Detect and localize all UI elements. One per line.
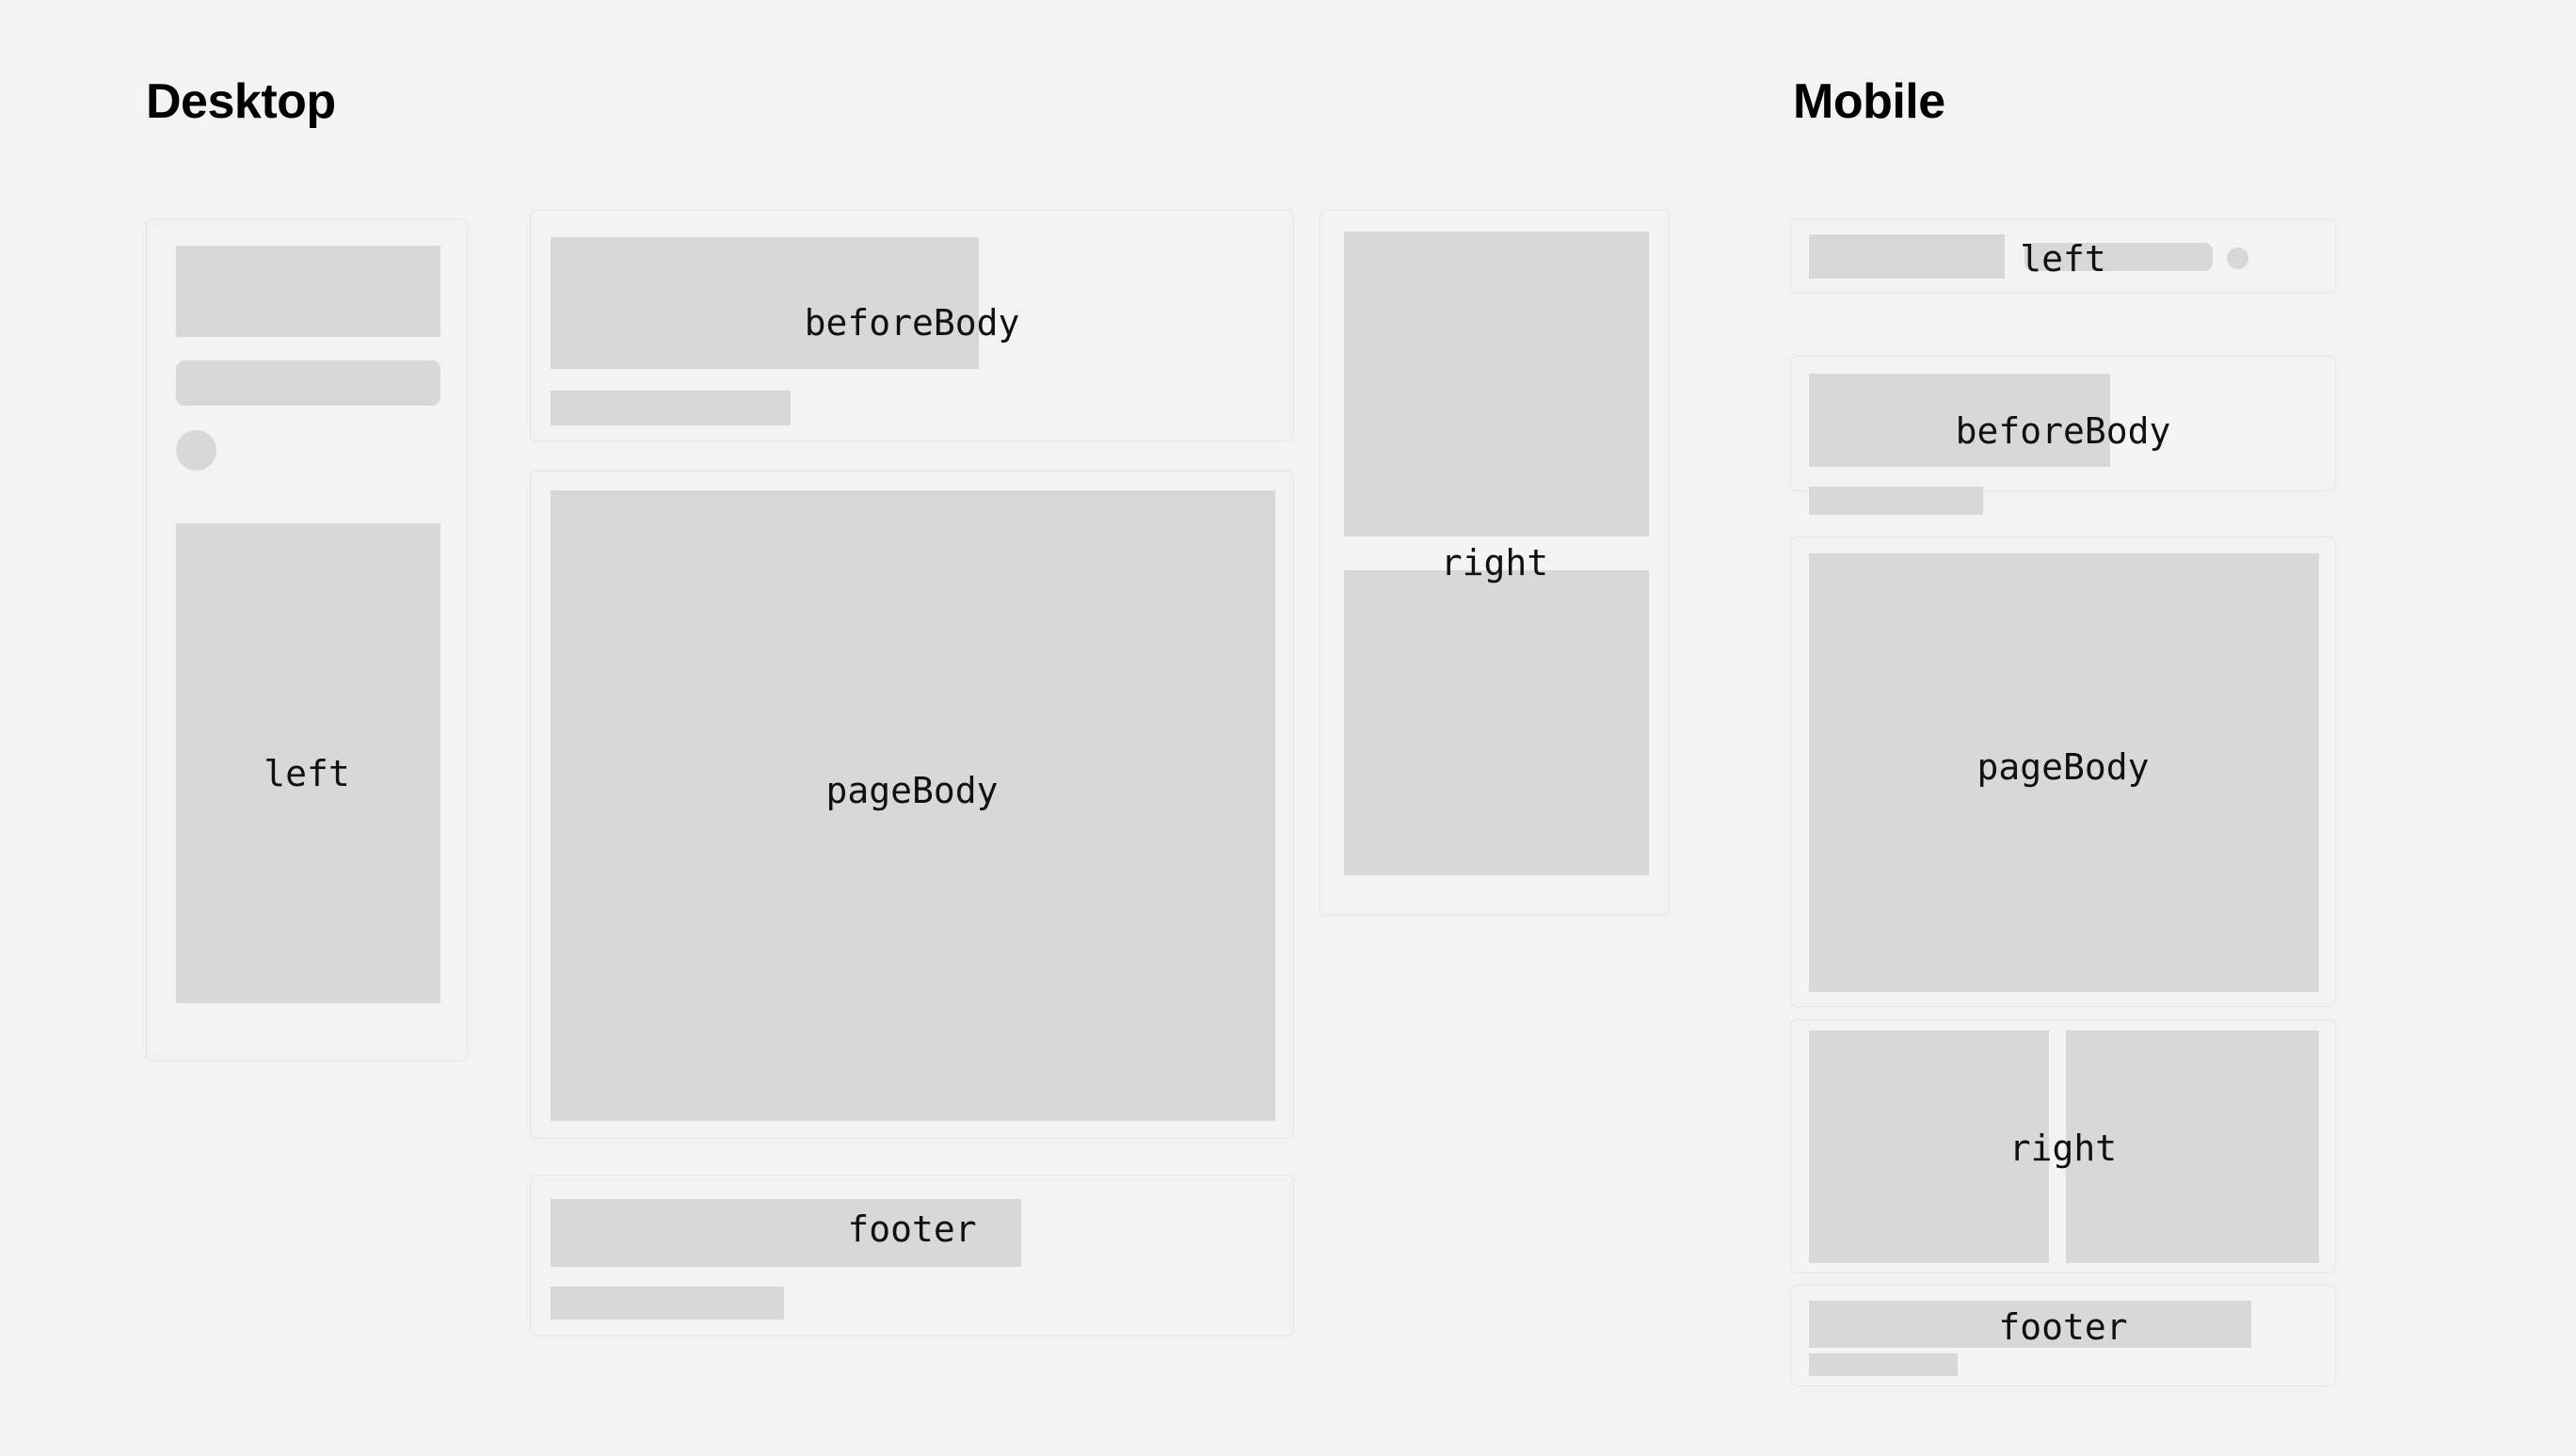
desktop-left-region-card[interactable]: left [146,218,468,1062]
skeleton-bar [551,391,791,425]
skeleton-block [1809,234,2005,279]
skeleton-bar [1809,1353,1958,1376]
skeleton-avatar-circle [176,430,216,471]
desktop-before-body-region-card[interactable]: beforeBody [530,210,1294,441]
skeleton-block [2066,1031,2319,1263]
mobile-footer-region-card[interactable]: footer [1790,1285,2336,1386]
skeleton-avatar-circle [2227,248,2248,269]
desktop-footer-region-card[interactable]: footer [530,1175,1294,1336]
mobile-column-title: Mobile [1793,77,1945,126]
skeleton-block [1809,374,2110,467]
skeleton-block [176,523,440,1003]
skeleton-bar [1809,487,1983,515]
skeleton-block [551,1199,1021,1267]
mobile-before-body-region-card[interactable]: beforeBody [1790,356,2336,491]
skeleton-block [551,490,1275,1121]
desktop-page-body-region-card[interactable]: pageBody [530,471,1294,1139]
desktop-column-title: Desktop [146,77,336,126]
mobile-left-region-card[interactable]: left [1790,218,2336,294]
skeleton-block [1809,1031,2049,1263]
skeleton-bar [2024,243,2213,271]
mobile-right-region-card[interactable]: right [1790,1019,2336,1273]
skeleton-block [1344,570,1649,875]
desktop-right-region-card[interactable]: right [1320,210,1670,916]
skeleton-block [1809,553,2319,992]
skeleton-bar [551,1287,784,1320]
skeleton-block [176,246,440,337]
skeleton-bar [176,360,440,406]
layout-preview-canvas: Desktop left beforeBody pageBody right f… [0,0,2576,1456]
mobile-page-body-region-card[interactable]: pageBody [1790,536,2336,1007]
skeleton-block [1344,232,1649,536]
skeleton-block [1809,1301,2251,1348]
skeleton-block [551,237,979,369]
